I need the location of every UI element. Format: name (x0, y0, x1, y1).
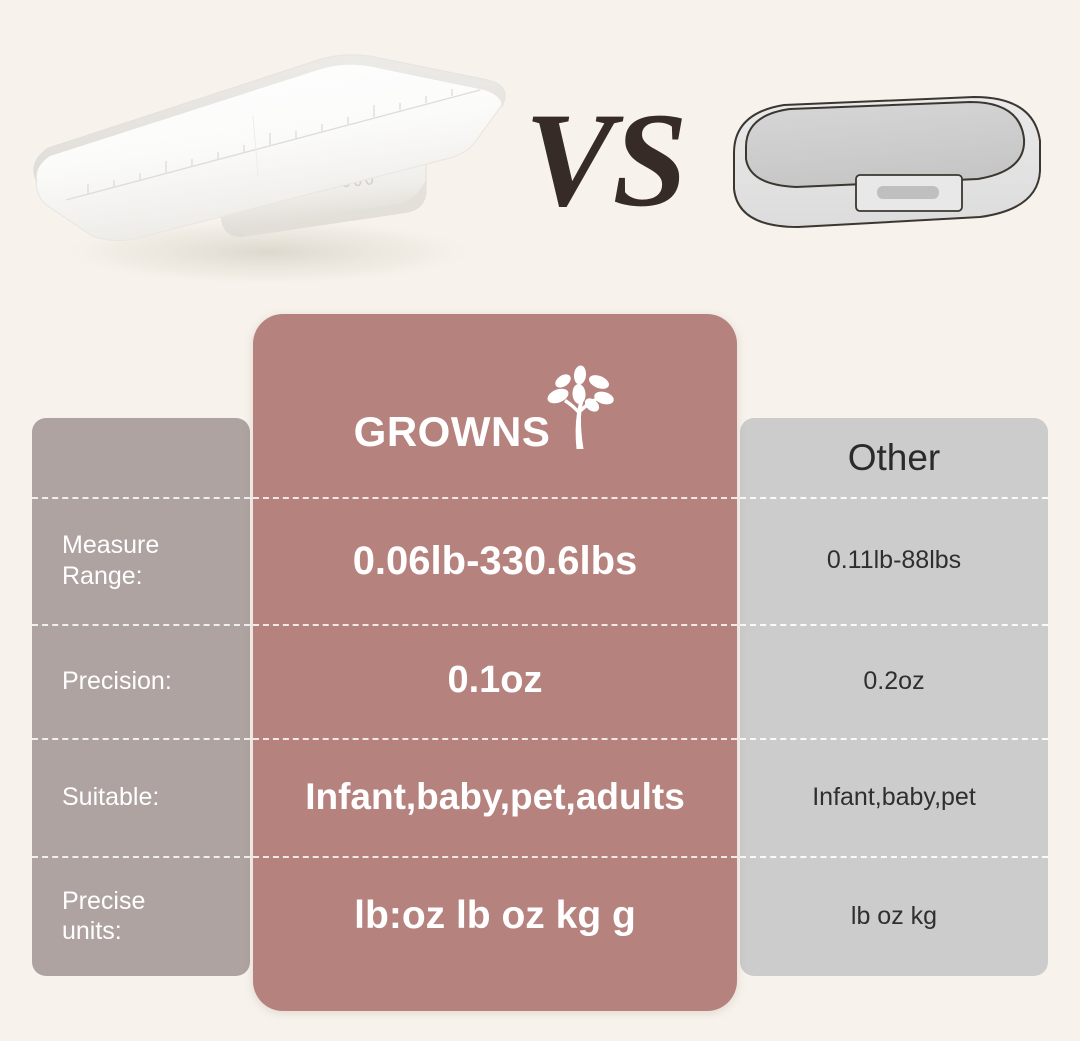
label-line-2: units: (62, 917, 122, 945)
row-label-suitable: Suitable: (32, 738, 250, 856)
brand-logo: GROWNS (253, 356, 737, 476)
label-line-1: Precise (62, 887, 145, 915)
row-label-measure-range: Measure Range: (32, 497, 250, 624)
tree-icon (536, 365, 622, 456)
other-value-suitable: Infant,baby,pet (740, 738, 1048, 856)
brand-value-measure-range: 0.06lb-330.6lbs (253, 497, 737, 624)
brand-value-precision: 0.1oz (253, 624, 737, 738)
brand-value-suitable: Infant,baby,pet,adults (253, 738, 737, 856)
other-column: Other 0.11lb-88lbs 0.2oz Infant,baby,pet… (740, 418, 1048, 976)
row-label-precise-units: Precise units: (32, 856, 250, 976)
brand-value-precise-units: lb:oz lb oz kg g (253, 856, 737, 976)
row-label-precision: Precision: (32, 624, 250, 738)
brand-column: GROWNS (253, 314, 737, 1011)
comparison-table: Measure Range: Precision: Suitable: Prec… (0, 0, 1080, 1041)
label-line-1: Precision: (62, 666, 172, 697)
label-line-2: Range: (62, 562, 143, 590)
other-value-precise-units: lb oz kg (740, 856, 1048, 976)
other-value-measure-range: 0.11lb-88lbs (740, 497, 1048, 624)
brand-name: GROWNS (354, 408, 551, 456)
label-line-1: Measure (62, 531, 159, 559)
other-column-header: Other (740, 418, 1048, 497)
other-value-precision: 0.2oz (740, 624, 1048, 738)
label-column: Measure Range: Precision: Suitable: Prec… (32, 418, 250, 976)
label-line-1: Suitable: (62, 782, 159, 813)
